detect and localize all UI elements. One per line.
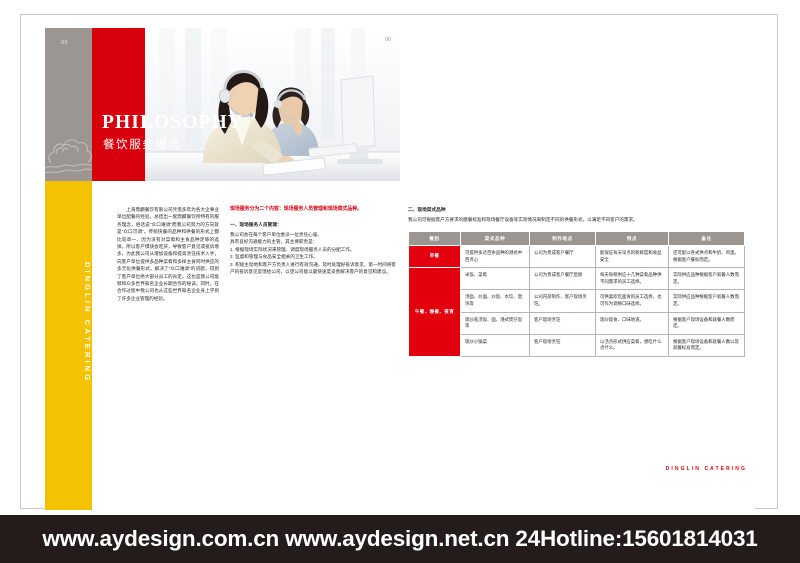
cell-features: 每天每顿供应十几种菜肴品种供不同需求的员工选择。 (596, 268, 669, 290)
service-list-item: 1. 根据现场实际状况来管理、调度现场服务人员的分配工作。 (230, 246, 400, 253)
menu-table: 餐别 菜式品种 制作地点 特点 备注 早餐 可提供多达百余品种的港式中西点心 公… (408, 231, 745, 357)
page-number-photo: 06 (385, 37, 391, 43)
cell-location: 公司为贵成客户餐厅后厨 (530, 268, 596, 290)
cell-features: 以活点形式供应菜肴，想吃什么点什么。 (596, 334, 669, 356)
menu-section-intro: 我公司可根据客户方要求的膳餐标准和现场餐厅设备等实际情况来制定不同的供餐形式，以… (408, 216, 744, 223)
cell-dishes: 现炒盖浇饭、面、港式煲仔饭等 (461, 312, 530, 334)
column-header-remarks: 备注 (669, 232, 745, 246)
footer-contact-text: www.aydesign.com.cn www.aydesign.net.cn … (42, 526, 757, 552)
cell-remarks: 实际供应品种根据客户就餐人数而定。 (669, 290, 745, 312)
table-header-row: 餐别 菜式品种 制作地点 特点 备注 (409, 232, 745, 246)
left-gray-band: 05 (45, 28, 92, 181)
brand-footer-label: DINGLIN CATERING (666, 466, 747, 472)
right-page: 二、现场菜式品种 我公司可根据客户方要求的膳餐标准和现场餐厅设备等实际情况来制定… (400, 28, 755, 510)
page-number-left: 05 (61, 40, 68, 46)
cell-features: 现炒现食、口味地道。 (596, 312, 669, 334)
column-header-location: 制作地点 (530, 232, 596, 246)
menu-section-title: 二、现场菜式品种 (408, 206, 744, 214)
service-intro-line-1: 我公司会在每个客户单位委派一位责任心强、 (230, 231, 400, 238)
service-intro-line-2: 具有良好沟通能力的主管，其主要职责是： (230, 238, 400, 245)
cell-remarks: 还可配以各式供点和牛奶、鸡蛋。根据客户餐标而定。 (669, 246, 745, 268)
cell-dishes: 米饭、菜肴 (461, 268, 530, 290)
cell-features: 可供喜欢吃面食的员工选择，也可作为调换口味选择。 (596, 290, 669, 312)
service-content-column: 现场服务分为二个内容：现场服务人员管理和现场菜式品种。 一、现场服务人员管理： … (230, 206, 400, 275)
cell-dishes: 汤面、炒面、炒饭、水饺、馄饨等 (461, 290, 530, 312)
vertical-brand-label: DINGLIN CATERING (45, 203, 92, 443)
cell-dishes: 现炒小锅菜 (461, 334, 530, 356)
service-section-title: 一、现场服务人员管理： (230, 221, 400, 229)
hero-photo: 06 (145, 28, 400, 181)
column-header-features: 特点 (596, 232, 669, 246)
table-row: 早餐 可提供多达百余品种的港式中西点心 公司为贵成客户餐厅 能保证每天早点的新鲜… (409, 246, 745, 268)
column-header-dishes: 菜式品种 (461, 232, 530, 246)
cell-remarks: 根据客户现场设备和就餐人数而定。 (669, 312, 745, 334)
footer-banner: www.aydesign.com.cn www.aydesign.net.cn … (0, 515, 800, 563)
row-category-breakfast: 早餐 (409, 246, 461, 268)
service-highlight: 现场服务分为二个内容：现场服务人员管理和现场菜式品种。 (230, 206, 400, 214)
cell-dishes: 可提供多达百余品种的港式中西点心 (461, 246, 530, 268)
table-row: 午餐、晚餐、夜宵 米饭、菜肴 公司为贵成客户餐厅后厨 每天每顿供应十几种菜肴品种… (409, 268, 745, 290)
left-yellow-band: DINGLIN CATERING (45, 181, 92, 510)
left-body-column: 上海鼎麟餐饮有限公司凭借多年为各大企事业单位配餐的经验，总结出一套鼎麟餐饮所特有… (117, 206, 219, 302)
column-header-category: 餐别 (409, 232, 461, 246)
company-paragraph: 上海鼎麟餐饮有限公司凭借多年为各大企事业单位配餐的经验，总结出一套鼎麟餐饮所特有… (117, 206, 219, 302)
service-list-item: 2. 监督和管理与食品安全相关的卫生工作。 (230, 253, 400, 260)
callcenter-photo-illustration (145, 28, 400, 181)
left-page: 05 DINGLIN CATERING 06 06 (45, 28, 400, 510)
service-list-item: 3. 积极主动地和客户方负责人进行有效沟通，及时处理好投诉意见，第一时间将客户的… (230, 261, 400, 276)
cell-remarks: 实际供应品种根据客户就餐人数而定。 (669, 268, 745, 290)
cell-location: 客户现场烹饪 (530, 334, 596, 356)
cloud-wave-motif-icon (45, 123, 92, 179)
menu-section-header: 二、现场菜式品种 我公司可根据客户方要求的膳餐标准和现场餐厅设备等实际情况来制定… (408, 206, 744, 223)
cell-location: 客户现场烹饪 (530, 312, 596, 334)
cell-remarks: 根据客户现场设备和就餐人数以及就餐标准而定。 (669, 334, 745, 356)
cell-location: 公司为贵成客户餐厅 (530, 246, 596, 268)
row-category-meals: 午餐、晚餐、夜宵 (409, 268, 461, 357)
brochure-spread: 05 DINGLIN CATERING 06 06 (0, 0, 800, 563)
cell-features: 能保证每天早点的新鲜度和食品安全 (596, 246, 669, 268)
cell-location: 公司内部制作、客户现场烹饪。 (530, 290, 596, 312)
